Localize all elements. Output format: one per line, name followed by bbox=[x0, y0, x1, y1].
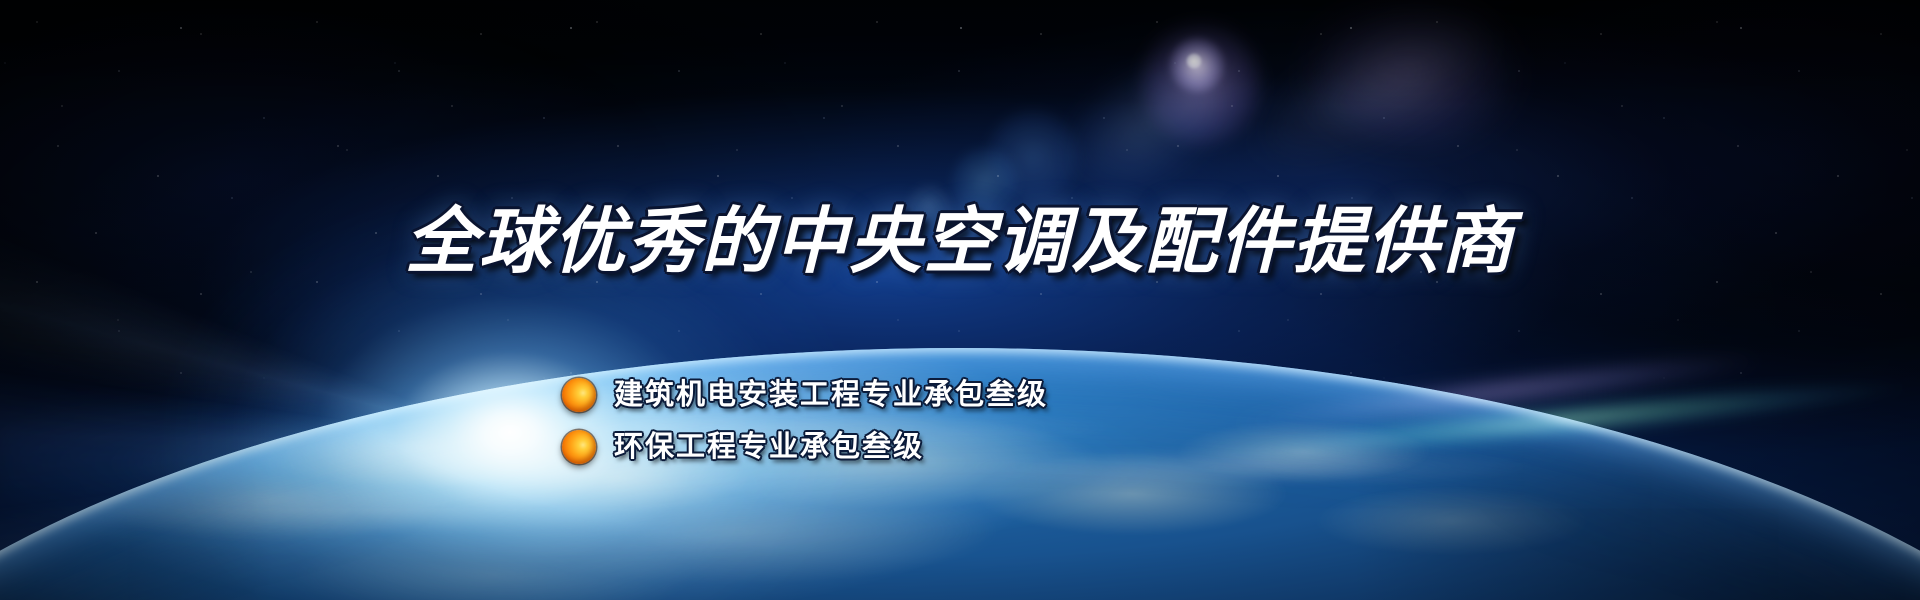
banner-headline: 全球优秀的中央空调及配件提供商 bbox=[0, 206, 1920, 278]
list-item: 建筑机电安装工程专业承包叁级 bbox=[562, 378, 1048, 412]
banner-content: 全球优秀的中央空调及配件提供商 建筑机电安装工程专业承包叁级 环保工程专业承包叁… bbox=[0, 0, 1920, 600]
list-item: 环保工程专业承包叁级 bbox=[562, 430, 1048, 464]
hero-banner: 全球优秀的中央空调及配件提供商 建筑机电安装工程专业承包叁级 环保工程专业承包叁… bbox=[0, 0, 1920, 600]
qualification-label: 建筑机电安装工程专业承包叁级 bbox=[614, 381, 1048, 410]
qualification-label: 环保工程专业承包叁级 bbox=[614, 433, 924, 462]
qualification-list: 建筑机电安装工程专业承包叁级 环保工程专业承包叁级 bbox=[562, 378, 1048, 464]
orange-sphere-bullet-icon bbox=[562, 378, 596, 412]
orange-sphere-bullet-icon bbox=[562, 430, 596, 464]
